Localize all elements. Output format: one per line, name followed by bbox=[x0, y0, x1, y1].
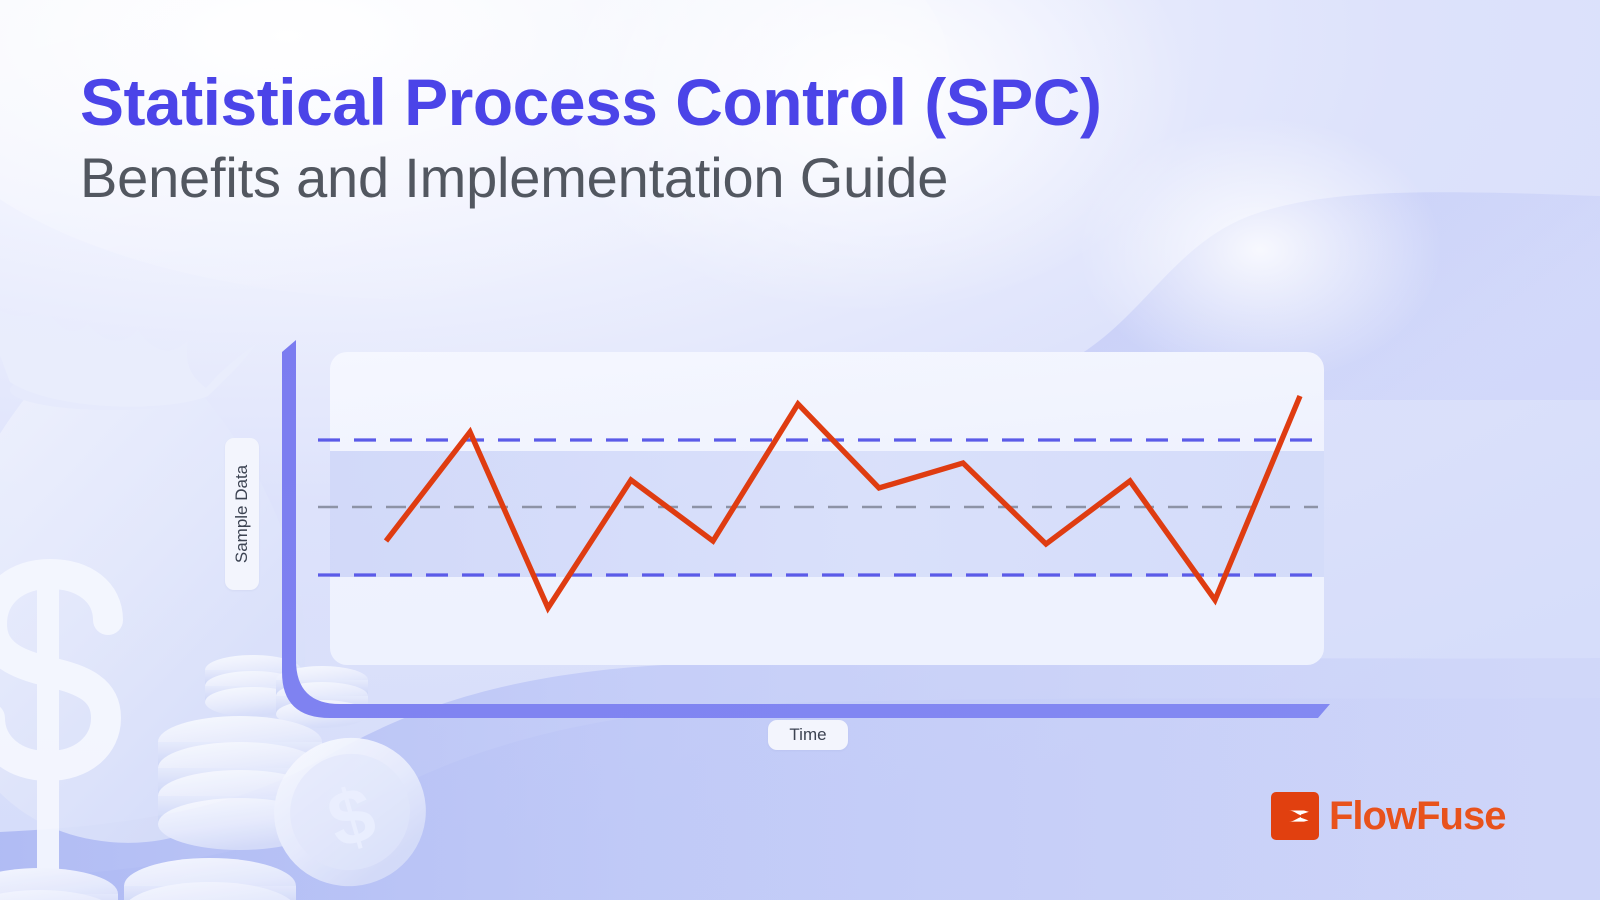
headline-block: Statistical Process Control (SPC) Benefi… bbox=[80, 68, 1340, 207]
flowfuse-wordmark: FlowFuse bbox=[1329, 796, 1505, 836]
flowfuse-mark-icon bbox=[1271, 792, 1319, 840]
flowfuse-logo[interactable]: FlowFuse bbox=[1271, 792, 1505, 840]
page-subtitle: Benefits and Implementation Guide bbox=[80, 149, 1340, 208]
money-bag-illustration: $ bbox=[0, 272, 440, 900]
poster-canvas: $ Statistical Process Control (SPC) Bene… bbox=[0, 0, 1600, 900]
page-title: Statistical Process Control (SPC) bbox=[80, 68, 1340, 137]
